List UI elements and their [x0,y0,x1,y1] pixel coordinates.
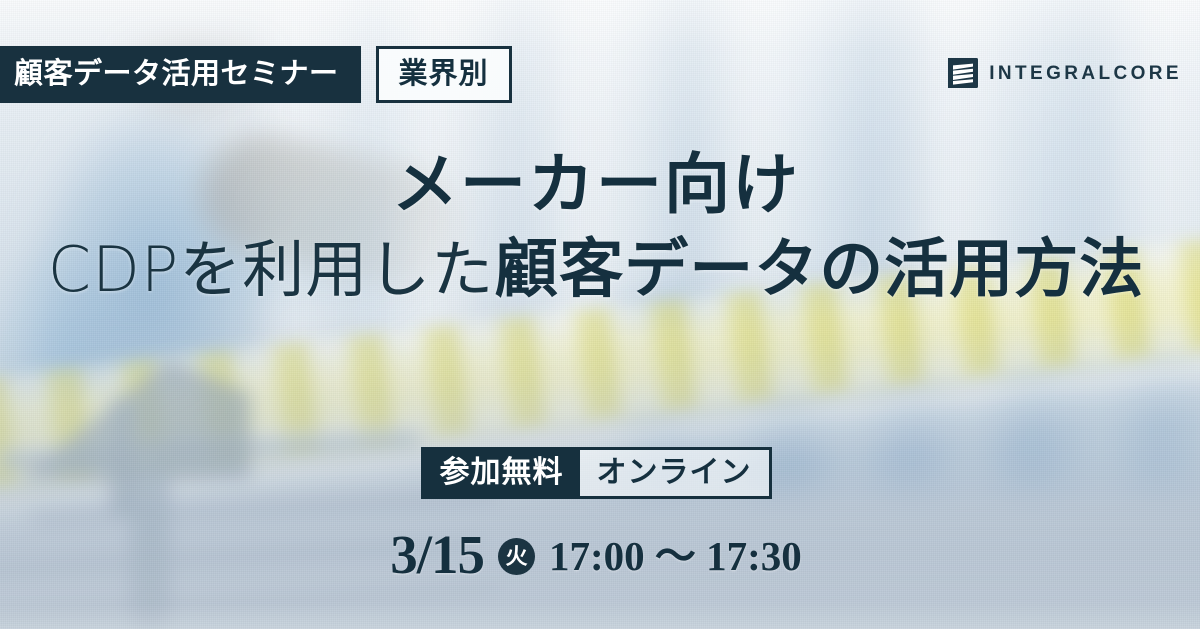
brand-logo: INTEGRALCORE [948,58,1182,88]
schedule-date: 3/15 [390,527,484,582]
seminar-banner: 顧客データ活用セミナー 業界別 INTEGRALCORE メーカー向け CDPを… [0,0,1200,629]
headline-line-2: CDPを利用した顧客データの活用方法 [0,234,1192,304]
series-label: 顧客データ活用セミナー [0,46,361,103]
schedule-time-range: 17:00 〜 17:30 [549,536,802,577]
headline: メーカー向け CDPを利用した顧客データの活用方法 [0,148,1192,304]
category-tag: 業界別 [376,46,512,103]
badge-mode: オンライン [580,450,769,496]
schedule: 3/15 火 17:00 〜 17:30 [0,527,1192,582]
eyebrow-bar: 顧客データ活用セミナー 業界別 [0,46,512,103]
integralcore-logo-icon [948,58,978,88]
schedule-day-of-week-badge: 火 [498,538,535,575]
brand-name: INTEGRALCORE [989,64,1182,83]
badge-row: 参加無料 オンライン [0,447,1192,499]
badge-group: 参加無料 オンライン [421,447,772,499]
banner-content: 顧客データ活用セミナー 業界別 INTEGRALCORE メーカー向け CDPを… [0,0,1200,629]
headline-line-1: メーカー向け [0,148,1192,222]
headline-line-2-light: CDPを利用した [48,233,494,306]
badge-fee: 参加無料 [424,450,580,496]
headline-line-2-strong: 顧客データの活用方法 [494,233,1144,305]
